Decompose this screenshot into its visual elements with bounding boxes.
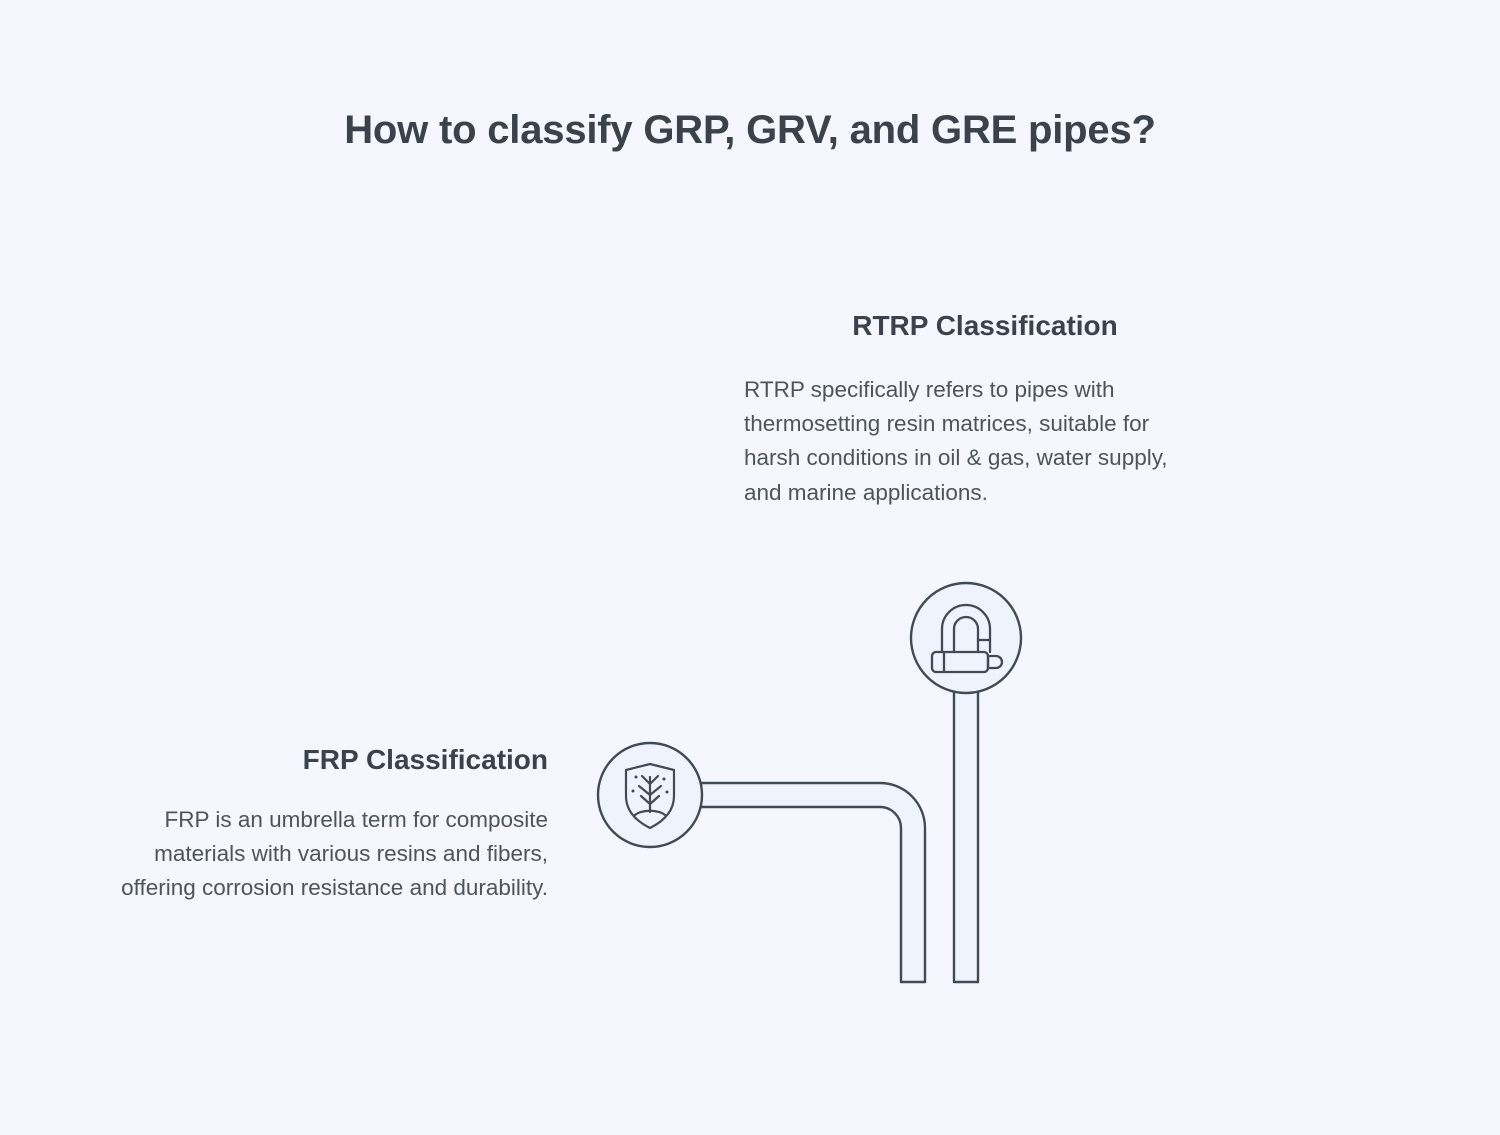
- rtrp-description: RTRP specifically refers to pipes with t…: [744, 373, 1184, 510]
- frp-icon-node[interactable]: [598, 743, 702, 847]
- frp-icon-circle[interactable]: [598, 743, 702, 847]
- pipe-diagram-svg: [0, 0, 1500, 1135]
- elbow-pipe: [700, 783, 925, 982]
- u-lock-icon: [932, 605, 1002, 672]
- frp-heading: FRP Classification: [106, 742, 548, 777]
- rtrp-classification-block: RTRP Classification RTRP specifically re…: [744, 308, 1184, 510]
- frp-description: FRP is an umbrella term for composite ma…: [106, 803, 548, 906]
- infographic-canvas: How to classify GRP, GRV, and GRE pipes?: [0, 0, 1500, 1135]
- vertical-pipe: [954, 690, 978, 982]
- rtrp-heading: RTRP Classification: [786, 308, 1184, 343]
- frp-classification-block: FRP Classification FRP is an umbrella te…: [106, 742, 548, 906]
- rtrp-icon-circle[interactable]: [911, 583, 1021, 693]
- pipe-diagram-graphic: [0, 0, 1500, 1135]
- shield-plant-icon: [626, 764, 674, 828]
- rtrp-icon-node[interactable]: [911, 583, 1021, 693]
- page-title: How to classify GRP, GRV, and GRE pipes?: [0, 108, 1500, 153]
